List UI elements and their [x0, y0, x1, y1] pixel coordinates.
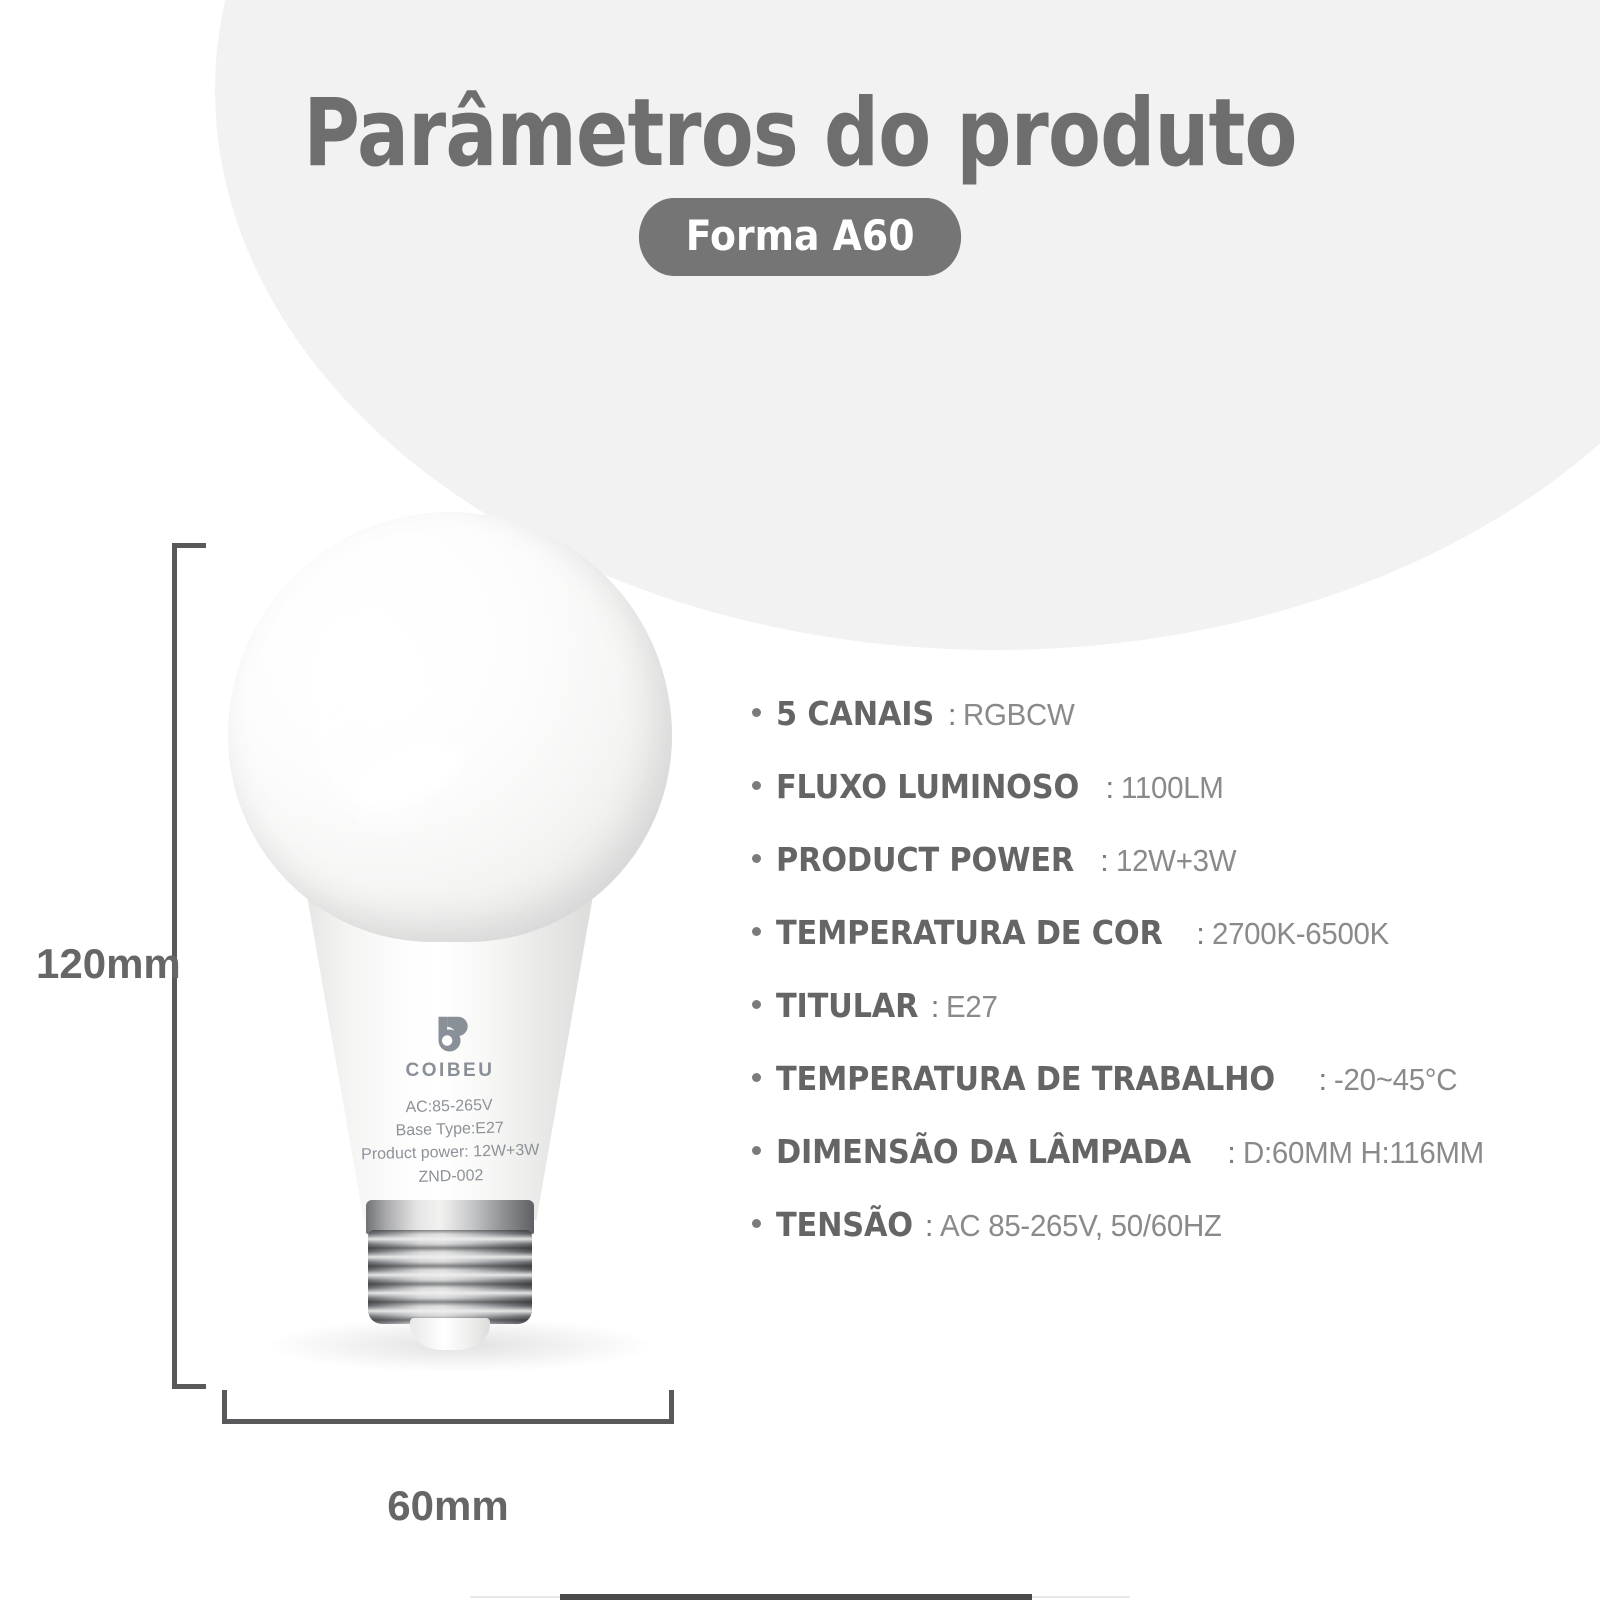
e27-screw-base [362, 1200, 538, 1350]
spec-value: 12W+3W [1116, 843, 1236, 879]
spec-separator: : [1318, 1062, 1327, 1098]
spec-item-voltage: TENSÃO : AC 85-265V, 50/60HZ [752, 1205, 1582, 1278]
spec-label: PRODUCT POWER [776, 840, 1074, 879]
width-dimension-bracket [222, 1390, 674, 1424]
spec-value: RGBCW [963, 697, 1074, 733]
spec-value: D:60MM H:116MM [1243, 1135, 1484, 1171]
height-dimension-label: 120mm [36, 940, 181, 988]
spec-separator: : [925, 1208, 934, 1244]
spec-value: 2700K-6500K [1212, 916, 1389, 952]
specification-list: 5 CANAIS : RGBCW FLUXO LUMINOSO : 1100LM… [752, 694, 1582, 1278]
spec-item-working-temperature: TEMPERATURA DE TRABALHO : -20~45°C [752, 1059, 1582, 1132]
spec-value: 1100LM [1121, 770, 1224, 806]
screw-base-threads [368, 1230, 532, 1324]
led-bulb-image: COIBEU AC:85-265V Base Type:E27 Product … [210, 500, 690, 1400]
spec-value: -20~45°C [1334, 1062, 1457, 1098]
glass-specular-highlight [292, 597, 467, 849]
spec-item-lamp-dimension: DIMENSÃO DA LÂMPADA : D:60MM H:116MM [752, 1132, 1582, 1205]
bulb-brand-name: COIBEU [306, 1060, 594, 1083]
spec-item-color-temperature: TEMPERATURA DE COR : 2700K-6500K [752, 913, 1582, 986]
bullet-icon [752, 1146, 761, 1155]
product-parameters-page: Parâmetros do produto Forma A60 120mm 60… [0, 0, 1600, 1600]
bullet-icon [752, 927, 761, 936]
bullet-icon [752, 854, 761, 863]
bulb-glass-globe [228, 512, 672, 942]
spec-separator: : [931, 989, 940, 1025]
spec-label: TENSÃO [776, 1205, 913, 1244]
bullet-icon [752, 708, 761, 717]
spec-label: TEMPERATURA DE TRABALHO [776, 1059, 1275, 1098]
screw-base-contact-tip [410, 1318, 490, 1350]
spec-item-holder: TITULAR : E27 [752, 986, 1582, 1059]
spec-separator: : [1100, 843, 1109, 879]
spec-item-product-power: PRODUCT POWER : 12W+3W [752, 840, 1582, 913]
bullet-icon [752, 781, 761, 790]
page-title: Parâmetros do produto [144, 0, 1456, 182]
spec-value: AC 85-265V, 50/60HZ [940, 1208, 1222, 1244]
bullet-icon [752, 1219, 761, 1228]
spec-item-luminous-flux: FLUXO LUMINOSO : 1100LM [752, 767, 1582, 840]
spec-separator: : [948, 697, 957, 733]
spec-label: FLUXO LUMINOSO [776, 767, 1079, 806]
width-dimension-label: 60mm [222, 1482, 674, 1530]
spec-separator: : [1227, 1135, 1236, 1171]
bottom-edge-bar [560, 1594, 1032, 1600]
spec-separator: : [1196, 916, 1205, 952]
b-logo-icon [427, 1012, 473, 1058]
shape-badge: Forma A60 [639, 198, 961, 276]
spec-value: E27 [946, 989, 998, 1025]
bulb-printed-spec-lines: AC:85-265V Base Type:E27 Product power: … [305, 1091, 595, 1191]
bullet-icon [752, 1000, 761, 1009]
bullet-icon [752, 1073, 761, 1082]
screw-base-collar [366, 1200, 534, 1234]
spec-separator: : [1105, 770, 1114, 806]
header: Parâmetros do produto Forma A60 [0, 0, 1600, 276]
spec-label: TITULAR [776, 986, 918, 1025]
spec-label: 5 CANAIS [776, 694, 934, 733]
bulb-printed-label: COIBEU AC:85-265V Base Type:E27 Product … [306, 1012, 594, 1188]
spec-item-channels: 5 CANAIS : RGBCW [752, 694, 1582, 767]
spec-label: DIMENSÃO DA LÂMPADA [776, 1132, 1191, 1171]
badge-row: Forma A60 [0, 198, 1600, 276]
spec-label: TEMPERATURA DE COR [776, 913, 1163, 952]
